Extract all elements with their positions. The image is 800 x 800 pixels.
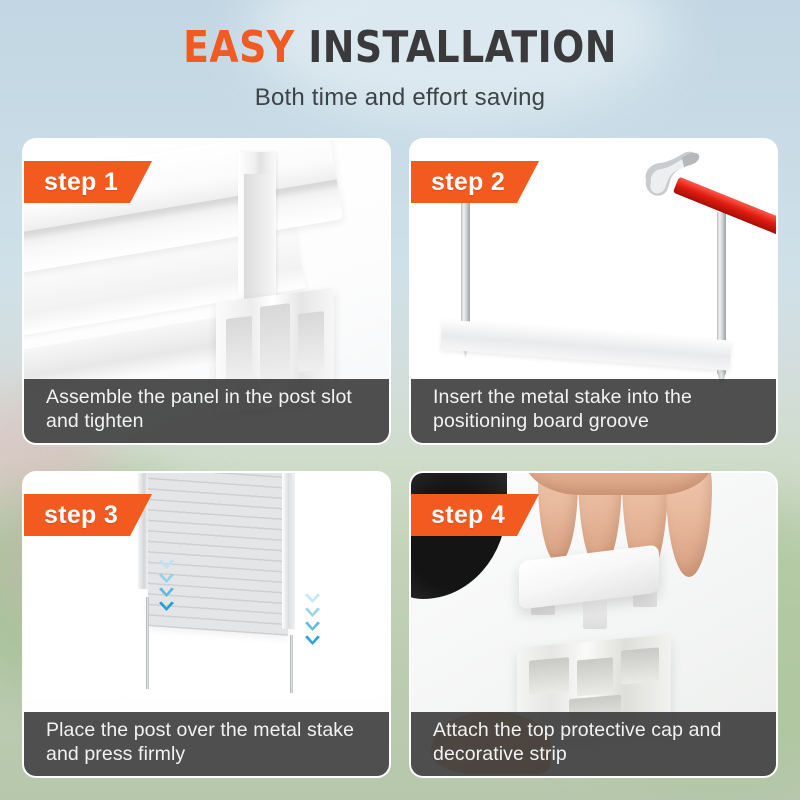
step-card-2: step 2 Insert the metal stake into the p…	[409, 138, 778, 445]
ground-stake-right	[290, 635, 293, 693]
step-4-caption: Attach the top protective cap and decora…	[411, 712, 776, 776]
steps-grid: step 1 Assemble the panel in the post sl…	[22, 138, 778, 778]
step-4-badge: step 4	[409, 494, 539, 536]
step-1-badge-label: step 1	[44, 170, 118, 195]
page-subtitle: Both time and effort saving	[0, 84, 800, 112]
chevron-down-icon	[304, 593, 321, 606]
step-1-caption-text: Assemble the panel in the post slot and …	[46, 386, 371, 434]
step-3-caption: Place the post over the metal stake and …	[24, 712, 389, 776]
step-1-badge: step 1	[22, 161, 152, 203]
page-title-highlight: EASY	[183, 22, 295, 73]
step-card-4: step 4 Attach the top protective cap and…	[409, 471, 778, 778]
down-arrows-left	[158, 559, 175, 614]
step-2-caption: Insert the metal stake into the position…	[411, 379, 776, 443]
fence-rail-right	[282, 473, 295, 629]
chevron-down-icon	[304, 635, 321, 648]
chevron-down-icon	[304, 607, 321, 620]
step-3-caption-text: Place the post over the metal stake and …	[46, 719, 371, 767]
step-card-1: step 1 Assemble the panel in the post sl…	[22, 138, 391, 445]
step-3-badge: step 3	[22, 494, 152, 536]
chevron-down-icon	[158, 601, 175, 614]
chevron-down-icon	[158, 559, 175, 572]
step-card-3: step 3 Place the post over the metal sta…	[22, 471, 391, 778]
page-title-rest: INSTALLATION	[295, 22, 617, 73]
chevron-down-icon	[158, 587, 175, 600]
ground-stake-left	[146, 597, 149, 689]
step-2-badge-label: step 2	[431, 170, 505, 195]
down-arrows-right	[304, 593, 321, 648]
step-2-badge: step 2	[409, 161, 539, 203]
chevron-down-icon	[158, 573, 175, 586]
step-1-caption: Assemble the panel in the post slot and …	[24, 379, 389, 443]
step-4-badge-label: step 4	[431, 503, 505, 528]
installation-infographic: EASY INSTALLATION Both time and effort s…	[0, 0, 800, 800]
cap-leg-center	[583, 601, 607, 629]
post-upper-section	[238, 152, 276, 312]
step-3-badge-label: step 3	[44, 503, 118, 528]
chevron-down-icon	[304, 621, 321, 634]
page-title: EASY INSTALLATION	[56, 26, 744, 70]
step-2-caption-text: Insert the metal stake into the position…	[433, 386, 758, 434]
header-block: EASY INSTALLATION Both time and effort s…	[0, 26, 800, 112]
step-4-caption-text: Attach the top protective cap and decora…	[433, 719, 758, 767]
